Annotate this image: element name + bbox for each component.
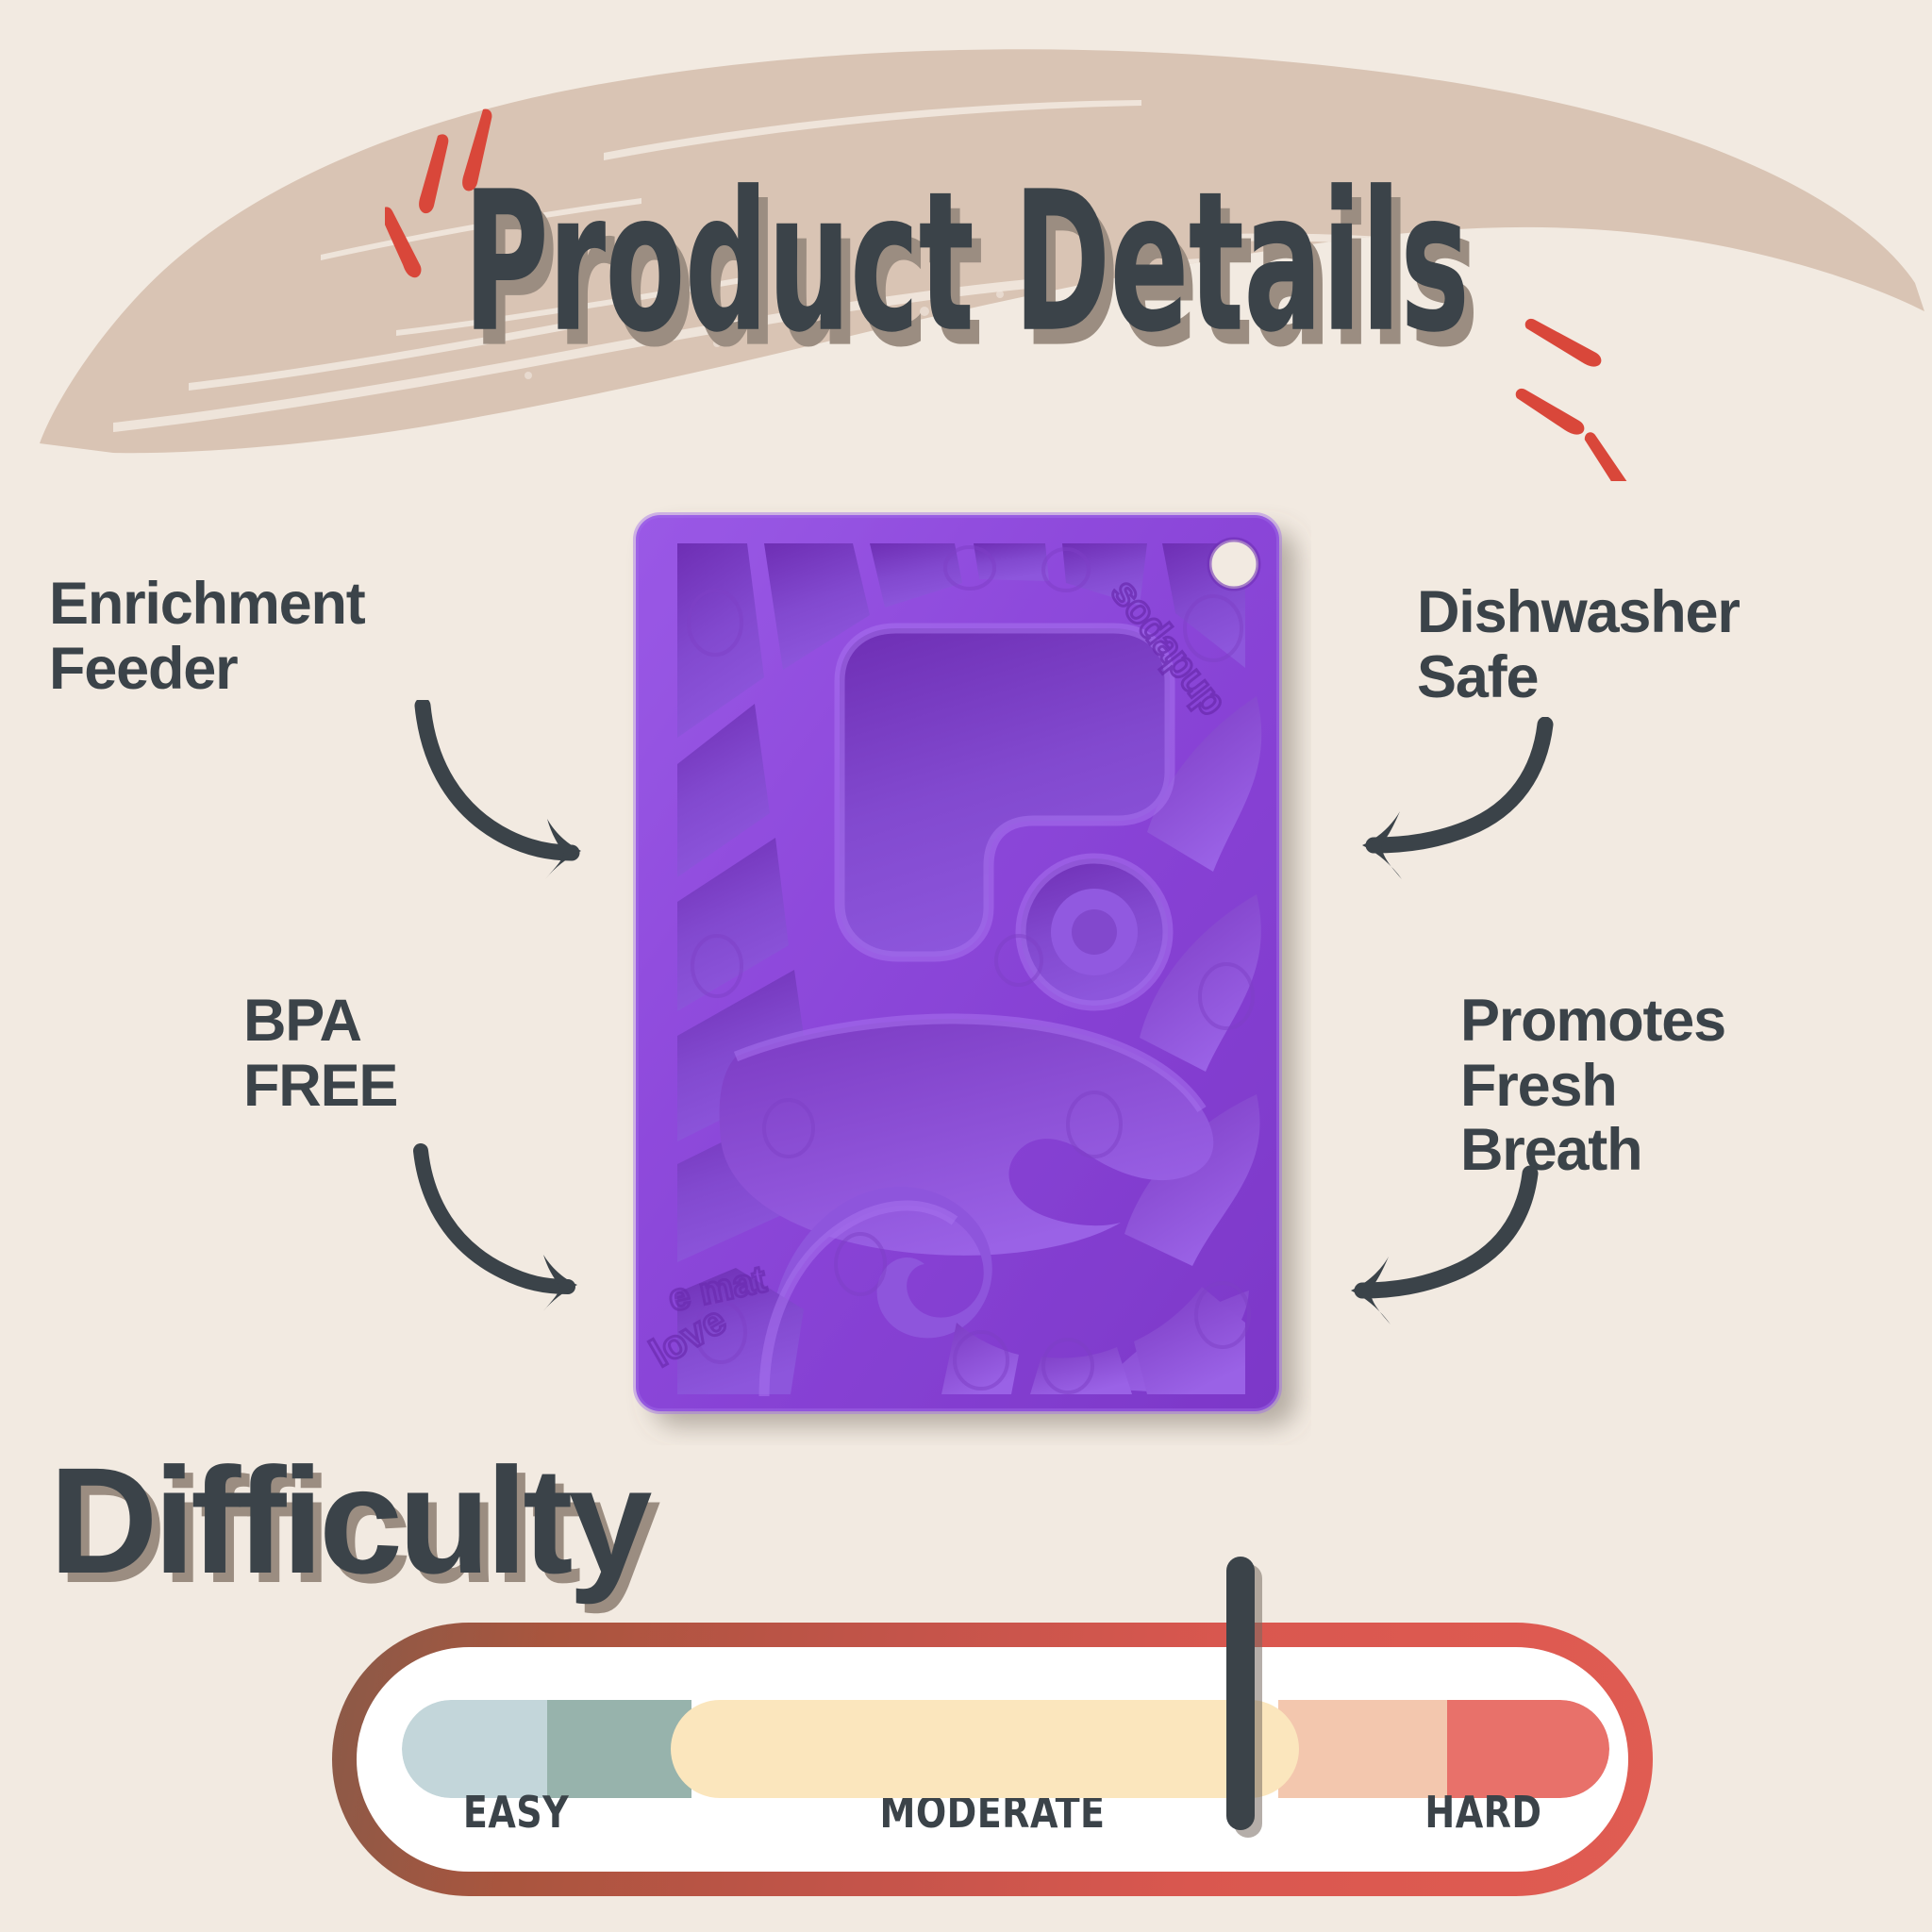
- difficulty-gradient-band: [402, 1700, 1609, 1798]
- difficulty-meter[interactable]: EASY MODERATE HARD: [332, 1623, 1653, 1896]
- product-image: sodapup e mat love: [623, 502, 1311, 1445]
- curved-arrow-down-right-icon: [396, 700, 632, 879]
- callout-promotes-fresh-breath: Promotes Fresh Breath: [1460, 989, 1725, 1183]
- band-segment-hard: [1447, 1700, 1609, 1798]
- red-spark-marks-icon-right: [1509, 311, 1689, 481]
- band-segment-easy-mid: [547, 1700, 692, 1798]
- band-segment-moderate: [671, 1700, 1299, 1798]
- callout-line: Dishwasher: [1417, 580, 1740, 645]
- difficulty-label-hard: HARD: [1424, 1787, 1541, 1838]
- callout-line: FREE: [243, 1054, 397, 1119]
- curved-arrow-down-right-icon: [406, 1141, 623, 1311]
- difficulty-meter-inner: EASY MODERATE HARD: [357, 1647, 1628, 1872]
- callout-dishwasher-safe: Dishwasher Safe: [1417, 580, 1740, 709]
- callout-line: Promotes: [1460, 989, 1725, 1054]
- callout-line: Feeder: [49, 637, 365, 702]
- curved-arrow-down-left-icon: [1321, 717, 1575, 896]
- callout-bpa-free: BPA FREE: [243, 989, 397, 1118]
- callout-line: BPA: [243, 989, 397, 1054]
- difficulty-marker[interactable]: [1226, 1557, 1255, 1830]
- page-title: Product Details: [463, 168, 1469, 358]
- red-spark-marks-icon-left: [385, 102, 583, 291]
- hanging-hole: [1209, 540, 1258, 589]
- band-segment-hard-mid: [1278, 1700, 1447, 1798]
- callout-line: Enrichment: [49, 572, 365, 637]
- curved-arrow-down-left-icon: [1311, 1160, 1557, 1340]
- band-segment-easy: [402, 1700, 547, 1798]
- difficulty-title: Difficulty: [49, 1445, 647, 1596]
- callout-line: Safe: [1417, 645, 1740, 710]
- lick-mat-svg: sodapup e mat love: [623, 502, 1311, 1445]
- page-title-block: Product Details: [0, 168, 1932, 324]
- callout-line: Fresh: [1460, 1054, 1725, 1119]
- callout-enrichment-feeder: Enrichment Feeder: [49, 572, 365, 701]
